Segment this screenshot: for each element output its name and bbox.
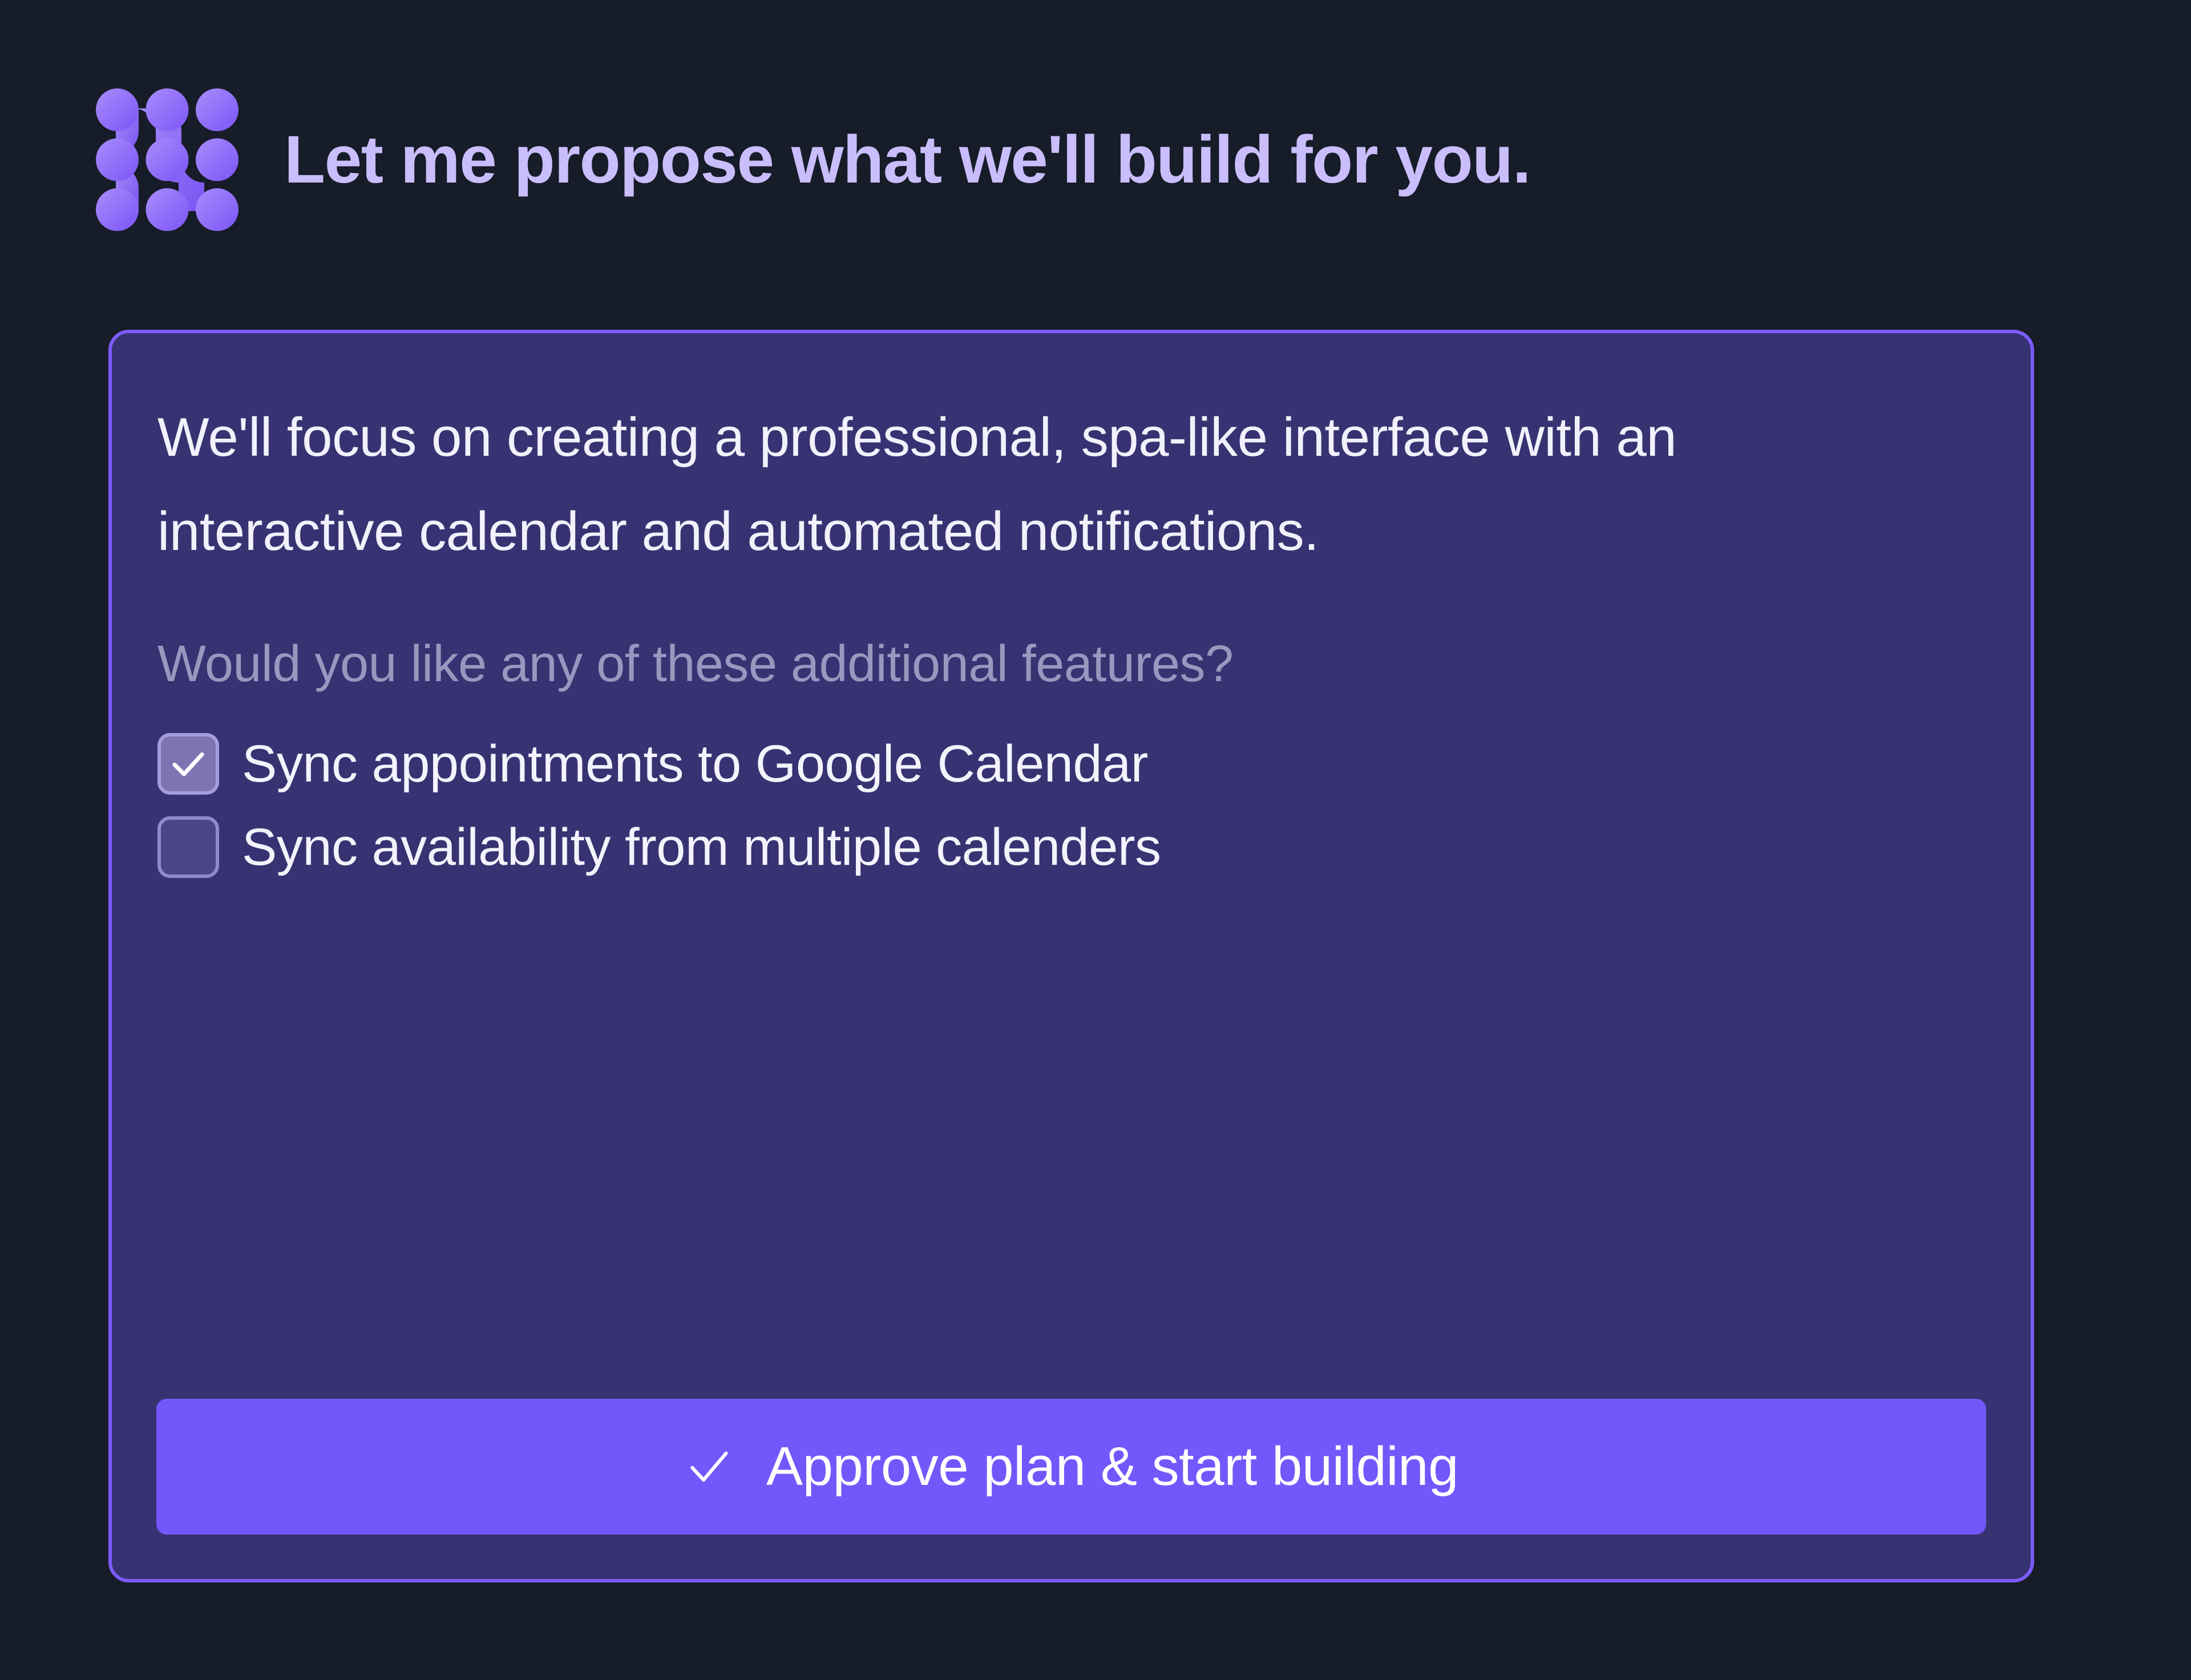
checkbox-sync-google-calendar[interactable] [157,733,219,795]
approve-plan-button[interactable]: Approve plan & start building [156,1399,1986,1535]
option-row-sync-google-calendar[interactable]: Sync appointments to Google Calendar [157,730,1985,798]
option-label-sync-multiple-calendars: Sync availability from multiple calender… [242,819,1161,876]
approve-plan-button-label: Approve plan & start building [766,1439,1458,1494]
proposal-card-content: We'll focus on creating a professional, … [112,333,2031,1579]
checkmark-icon [168,743,209,784]
option-row-sync-multiple-calendars[interactable]: Sync availability from multiple calender… [157,813,1985,881]
option-label-sync-google-calendar: Sync appointments to Google Calendar [242,735,1148,793]
page-title: Let me propose what we'll build for you. [284,126,1530,193]
additional-features-question: Would you like any of these additional f… [157,578,1985,695]
proposal-card: We'll focus on creating a professional, … [108,330,2034,1582]
proposal-screen: Let me propose what we'll build for you.… [0,0,2191,1680]
proposal-summary: We'll focus on creating a professional, … [157,374,1903,578]
dots-grid-logo-icon [96,88,238,231]
checkmark-icon [684,1442,733,1491]
header: Let me propose what we'll build for you. [96,80,1530,240]
additional-features-list: Sync appointments to Google Calendar Syn… [157,695,1985,881]
checkbox-sync-multiple-calendars[interactable] [157,816,219,878]
